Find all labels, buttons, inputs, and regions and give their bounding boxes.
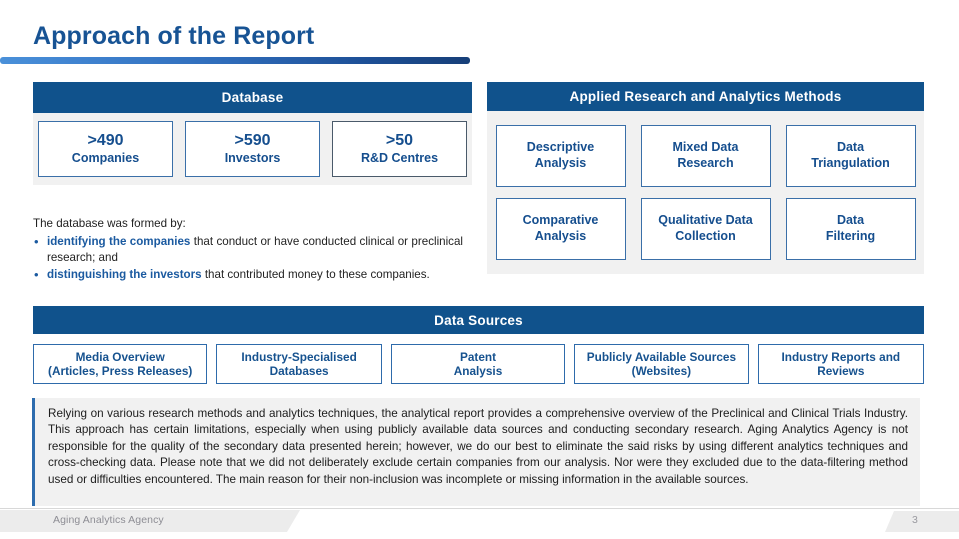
- stat-value: >590: [234, 132, 270, 151]
- source-box-media-overview[interactable]: Media Overview (Articles, Press Releases…: [33, 344, 207, 384]
- stat-box-investors[interactable]: >590 Investors: [185, 121, 320, 177]
- database-panel: Database >490 Companies >590 Investors >…: [33, 82, 472, 185]
- method-line-2: Research: [677, 156, 733, 172]
- method-line-1: Data: [837, 213, 864, 229]
- method-box-comparative-analysis[interactable]: Comparative Analysis: [496, 198, 626, 260]
- source-line-2: Reviews: [817, 364, 864, 378]
- method-box-qualitative-data-collection[interactable]: Qualitative Data Collection: [641, 198, 771, 260]
- method-line-2: Triangulation: [811, 156, 889, 172]
- methods-row-1: Descriptive Analysis Mixed Data Research…: [487, 125, 924, 187]
- bullet-highlight: identifying the companies: [47, 235, 190, 248]
- data-sources-row: Media Overview (Articles, Press Releases…: [33, 344, 924, 384]
- methods-panel: Applied Research and Analytics Methods D…: [487, 82, 924, 274]
- source-box-publicly-available-sources[interactable]: Publicly Available Sources (Websites): [574, 344, 748, 384]
- method-line-1: Mixed Data: [673, 140, 739, 156]
- database-stat-row: >490 Companies >590 Investors >50 R&D Ce…: [33, 121, 472, 177]
- methods-panel-body: Descriptive Analysis Mixed Data Research…: [487, 111, 924, 274]
- method-box-data-filtering[interactable]: Data Filtering: [786, 198, 916, 260]
- page-number: 3: [912, 514, 918, 526]
- method-box-data-triangulation[interactable]: Data Triangulation: [786, 125, 916, 187]
- method-line-1: Data: [837, 140, 864, 156]
- method-line-2: Analysis: [535, 229, 586, 245]
- source-box-patent-analysis[interactable]: Patent Analysis: [391, 344, 565, 384]
- source-box-industry-reports-and-reviews[interactable]: Industry Reports and Reviews: [758, 344, 924, 384]
- method-box-mixed-data-research[interactable]: Mixed Data Research: [641, 125, 771, 187]
- source-box-industry-specialised-databases[interactable]: Industry-Specialised Databases: [216, 344, 381, 384]
- source-line-1: Publicly Available Sources: [587, 350, 736, 364]
- database-note: The database was formed by: identifying …: [33, 216, 463, 284]
- page-title: Approach of the Report: [33, 22, 314, 51]
- method-line-1: Comparative: [523, 213, 599, 229]
- source-line-2: (Articles, Press Releases): [48, 364, 192, 378]
- database-note-intro: The database was formed by:: [33, 216, 463, 231]
- source-line-1: Media Overview: [76, 350, 165, 364]
- stat-label: R&D Centres: [361, 151, 438, 166]
- footer-company-name: Aging Analytics Agency: [53, 514, 164, 526]
- source-line-2: (Websites): [632, 364, 691, 378]
- bullet-rest: that contributed money to these companie…: [202, 268, 430, 281]
- data-sources-panel-header: Data Sources: [33, 306, 924, 334]
- method-box-descriptive-analysis[interactable]: Descriptive Analysis: [496, 125, 626, 187]
- methods-row-2: Comparative Analysis Qualitative Data Co…: [487, 198, 924, 260]
- stat-box-companies[interactable]: >490 Companies: [38, 121, 173, 177]
- list-item: identifying the companies that conduct o…: [33, 234, 463, 265]
- footer-right-shape: [885, 511, 959, 532]
- disclaimer-box: Relying on various research methods and …: [32, 398, 920, 506]
- methods-panel-header: Applied Research and Analytics Methods: [487, 82, 924, 111]
- method-line-1: Descriptive: [527, 140, 594, 156]
- bullet-highlight: distinguishing the investors: [47, 268, 202, 281]
- list-item: distinguishing the investors that contri…: [33, 267, 463, 282]
- stat-label: Companies: [72, 151, 139, 166]
- stat-box-rd-centres[interactable]: >50 R&D Centres: [332, 121, 467, 177]
- stat-value: >50: [386, 132, 413, 151]
- source-line-1: Industry-Specialised: [241, 350, 356, 364]
- title-underline-bar: [0, 57, 470, 64]
- method-line-2: Collection: [675, 229, 735, 245]
- stat-label: Investors: [225, 151, 281, 166]
- footer-divider: [0, 508, 959, 509]
- method-line-1: Qualitative Data: [658, 213, 752, 229]
- source-line-1: Industry Reports and: [781, 350, 900, 364]
- source-line-2: Analysis: [454, 364, 503, 378]
- source-line-2: Databases: [270, 364, 329, 378]
- database-note-list: identifying the companies that conduct o…: [33, 234, 463, 282]
- method-line-2: Analysis: [535, 156, 586, 172]
- stat-value: >490: [87, 132, 123, 151]
- disclaimer-text: Relying on various research methods and …: [48, 406, 908, 488]
- data-sources-panel: Data Sources: [33, 306, 924, 334]
- source-line-1: Patent: [460, 350, 496, 364]
- method-line-2: Filtering: [826, 229, 875, 245]
- database-panel-body: >490 Companies >590 Investors >50 R&D Ce…: [33, 113, 472, 185]
- database-panel-header: Database: [33, 82, 472, 113]
